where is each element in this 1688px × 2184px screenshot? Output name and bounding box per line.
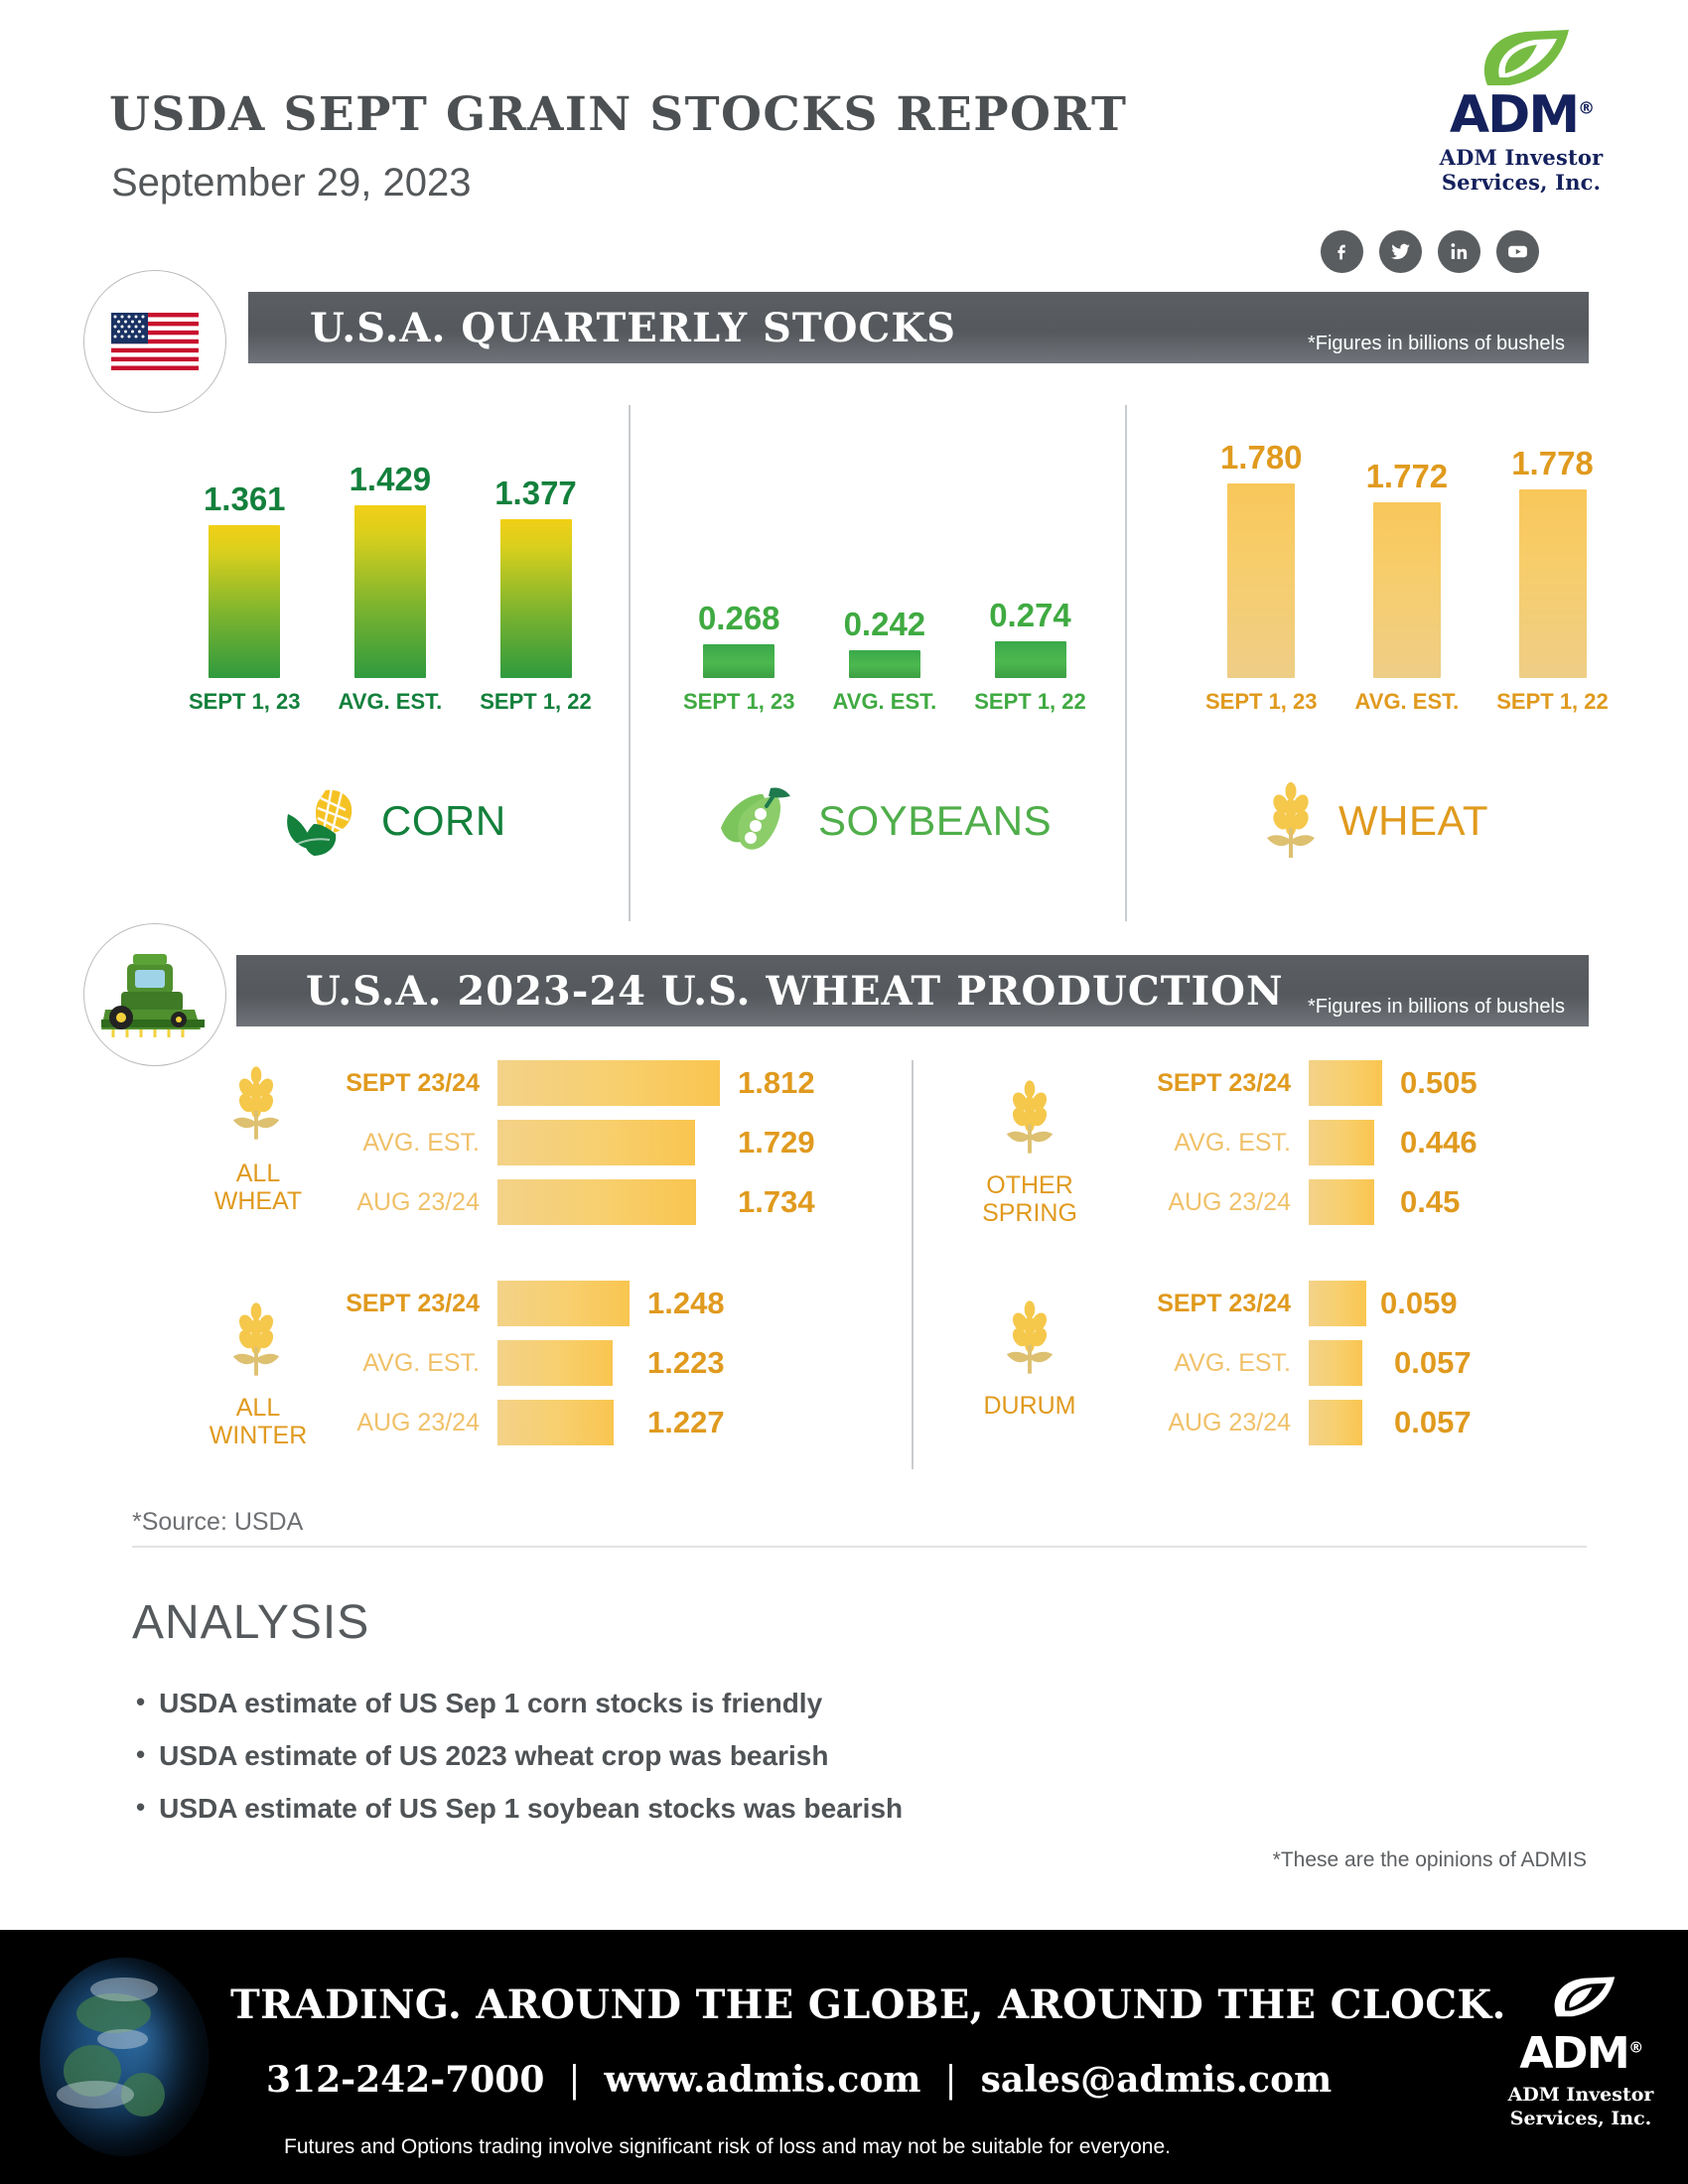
all-winter-label-line1: ALL: [184, 1394, 333, 1422]
wheat-label-2: SEPT 1, 22: [1496, 689, 1609, 715]
quarterly-stocks-note: *Figures in billions of bushels: [1308, 333, 1565, 355]
all-winter-row-0: SEPT 23/24 1.248: [321, 1281, 725, 1326]
all-winter-label-line2: WINTER: [184, 1422, 333, 1449]
all-winter-row-0-label: SEPT 23/24: [321, 1290, 480, 1318]
wheat-bar-1: [1373, 502, 1441, 678]
soybeans-value-2: 0.274: [989, 597, 1071, 634]
adm-wordmark: ADM®: [1450, 91, 1593, 140]
durum-row-0: SEPT 23/24 0.059: [1132, 1281, 1458, 1326]
other-spring-label-line1: OTHER: [955, 1171, 1104, 1199]
wheat-bar-2: [1519, 489, 1587, 678]
wheat-label-1: AVG. EST.: [1355, 689, 1460, 715]
corn-bars: 1.361 SEPT 1, 23 1.429 AVG. EST. 1.377 S…: [189, 477, 592, 715]
other-spring-row-0-bar: [1309, 1060, 1382, 1106]
soybean-pod-icon: [713, 784, 798, 858]
soybeans-bar-group-1: 0.242 AVG. EST.: [833, 606, 937, 715]
soybeans-value-0: 0.268: [698, 600, 780, 637]
opinions-note: *These are the opinions of ADMIS: [1273, 1848, 1587, 1872]
analysis-bullet-2: • USDA estimate of US Sep 1 soybean stoc…: [136, 1793, 903, 1825]
all-wheat-label-line2: WHEAT: [184, 1187, 333, 1215]
durum-row-2-bar: [1309, 1400, 1362, 1445]
infographic-page: USDA SEPT GRAIN STOCKS REPORT September …: [0, 0, 1688, 2184]
all-wheat-row-2: AUG 23/24 1.734: [321, 1179, 815, 1225]
corn-icon: [280, 784, 361, 858]
corn-bar-group-0: 1.361 SEPT 1, 23: [189, 480, 301, 715]
soybeans-bar-0: [703, 644, 774, 678]
footer-separator-1: |: [568, 2060, 580, 2101]
all-winter-row-0-bar: [497, 1281, 630, 1326]
footer-adm-trademark: ®: [1628, 2038, 1642, 2056]
other-spring-row-1-label: AVG. EST.: [1132, 1129, 1291, 1158]
all-winter-row-2-label: AUG 23/24: [321, 1409, 480, 1437]
durum-row-0-value: 0.059: [1380, 1286, 1458, 1321]
footer-adm-subtitle-line1: ADM Investor: [1491, 2084, 1670, 2108]
other-spring-row-0-value: 0.505: [1400, 1065, 1477, 1101]
analysis-bullet-2-text: USDA estimate of US Sep 1 soybean stocks…: [159, 1793, 903, 1825]
quarterly-divider-2: [1125, 405, 1127, 921]
wheat-production-title: U.S.A. 2023-24 U.S. WHEAT PRODUCTION: [306, 968, 1284, 1015]
corn-bar-2: [500, 519, 572, 678]
footer-separator-2: |: [945, 2060, 957, 2101]
footer-adm-logo: ADM® ADM Investor Services, Inc.: [1491, 1972, 1670, 2131]
all-winter-row-1: AVG. EST. 1.223: [321, 1340, 725, 1386]
all-wheat-row-1-bar: [497, 1120, 695, 1165]
wheat-production-note: *Figures in billions of bushels: [1308, 996, 1565, 1019]
youtube-icon[interactable]: [1496, 230, 1539, 273]
all-wheat-row-2-bar: [497, 1179, 696, 1225]
soybeans-crop-name: SOYBEANS: [818, 797, 1052, 845]
corn-label-0: SEPT 1, 23: [189, 689, 301, 715]
corn-bar-0: [209, 525, 280, 678]
analysis-bullet-1-text: USDA estimate of US 2023 wheat crop was …: [159, 1740, 828, 1772]
linkedin-icon[interactable]: [1438, 230, 1480, 273]
footer-adm-subtitle-line2: Services, Inc.: [1491, 2108, 1670, 2131]
durum-label: DURUM: [955, 1392, 1104, 1420]
all-wheat-label: ALL WHEAT: [184, 1160, 333, 1215]
wheat-bar-group-2: 1.778 SEPT 1, 22: [1496, 445, 1609, 715]
all-wheat-row-1-value: 1.729: [738, 1125, 815, 1160]
durum-label-line1: DURUM: [955, 1392, 1104, 1420]
corn-value-0: 1.361: [204, 480, 286, 518]
page-title: USDA SEPT GRAIN STOCKS REPORT: [109, 87, 1127, 142]
durum-row-0-bar: [1309, 1281, 1366, 1326]
all-winter-label: ALL WINTER: [184, 1394, 333, 1449]
all-wheat-row-2-label: AUG 23/24: [321, 1188, 480, 1217]
adm-logo-subtitle: ADM Investor Services, Inc.: [1422, 146, 1620, 196]
all-winter-row-1-label: AVG. EST.: [321, 1349, 480, 1378]
wheat-bar-0: [1227, 483, 1295, 678]
soybeans-bars: 0.268 SEPT 1, 23 0.242 AVG. EST. 0.274 S…: [683, 625, 1086, 715]
soybeans-crop-row: SOYBEANS: [713, 784, 1052, 858]
soybeans-bar-1: [849, 650, 920, 678]
all-winter-row-1-bar: [497, 1340, 613, 1386]
report-date: September 29, 2023: [111, 161, 471, 205]
usa-flag-icon: [111, 313, 199, 370]
footer-tagline: TRADING. AROUND THE GLOBE, AROUND THE CL…: [230, 1981, 1506, 2028]
bullet-dot-icon: •: [136, 1688, 145, 1716]
wheat-value-2: 1.778: [1511, 445, 1594, 482]
footer-website[interactable]: www.admis.com: [605, 2059, 921, 2101]
footer-phone[interactable]: 312-242-7000: [266, 2059, 544, 2101]
wheat-production-header-bar: U.S.A. 2023-24 U.S. WHEAT PRODUCTION *Fi…: [236, 955, 1589, 1026]
durum-row-1-label: AVG. EST.: [1132, 1349, 1291, 1378]
all-wheat-row-1: AVG. EST. 1.729: [321, 1120, 815, 1165]
footer-email[interactable]: sales@admis.com: [981, 2059, 1333, 2101]
corn-value-1: 1.429: [350, 461, 432, 498]
soybeans-value-1: 0.242: [844, 606, 926, 643]
wheat-stalk-icon: [1263, 782, 1319, 860]
all-wheat-label-line1: ALL: [184, 1160, 333, 1187]
bullet-dot-icon: •: [136, 1740, 145, 1769]
adm-logo-subtitle-line1: ADM Investor: [1422, 146, 1620, 171]
other-spring-label: OTHER SPRING: [955, 1171, 1104, 1227]
corn-bar-group-2: 1.377 SEPT 1, 22: [480, 475, 592, 715]
corn-value-2: 1.377: [494, 475, 577, 512]
analysis-heading: ANALYSIS: [132, 1595, 369, 1650]
wheat-crop-name: WHEAT: [1338, 797, 1488, 845]
wheat-stalk-icon: [229, 1066, 283, 1142]
bullet-dot-icon: •: [136, 1793, 145, 1822]
all-winter-group: ALL WINTER SEPT 23/24 1.248 AVG. EST. 1.…: [132, 1281, 912, 1469]
wheat-value-0: 1.780: [1220, 439, 1303, 477]
facebook-icon[interactable]: [1321, 230, 1363, 273]
adm-wordmark-text: ADM: [1450, 85, 1578, 145]
other-spring-label-line2: SPRING: [955, 1199, 1104, 1227]
source-note: *Source: USDA: [132, 1508, 303, 1537]
other-spring-group: OTHER SPRING SEPT 23/24 0.505 AVG. EST. …: [955, 1060, 1591, 1249]
durum-row-1-value: 0.057: [1394, 1345, 1472, 1381]
all-wheat-row-0: SEPT 23/24 1.812: [321, 1060, 815, 1106]
durum-row-2: AUG 23/24 0.057: [1132, 1400, 1472, 1445]
all-winter-row-2-bar: [497, 1400, 614, 1445]
adm-leaf-icon: [1544, 1972, 1618, 2023]
durum-group: DURUM SEPT 23/24 0.059 AVG. EST. 0.057 A…: [955, 1281, 1591, 1469]
all-wheat-group: ALL WHEAT SEPT 23/24 1.812 AVG. EST. 1.7…: [132, 1060, 912, 1249]
footer-adm-wordmark: ADM®: [1491, 2032, 1670, 2076]
all-wheat-row-0-bar: [497, 1060, 720, 1106]
other-spring-row-2-bar: [1309, 1179, 1374, 1225]
combine-harvester-icon: [97, 948, 212, 1041]
other-spring-row-1-bar: [1309, 1120, 1374, 1165]
all-winter-row-2: AUG 23/24 1.227: [321, 1400, 725, 1445]
other-spring-row-2-value: 0.45: [1400, 1184, 1460, 1220]
durum-row-2-label: AUG 23/24: [1132, 1409, 1291, 1437]
other-spring-row-1-value: 0.446: [1400, 1125, 1477, 1160]
soybeans-label-0: SEPT 1, 23: [683, 689, 795, 715]
quarterly-stocks-header-bar: U.S.A. QUARTERLY STOCKS *Figures in bill…: [248, 292, 1589, 363]
all-winter-row-2-value: 1.227: [647, 1405, 725, 1440]
wheat-stalk-icon: [1003, 1300, 1056, 1376]
all-wheat-row-2-value: 1.734: [738, 1184, 815, 1220]
all-winter-row-1-value: 1.223: [647, 1345, 725, 1381]
wheat-production-divider: [912, 1060, 914, 1469]
soybeans-bar-group-0: 0.268 SEPT 1, 23: [683, 600, 795, 715]
wheat-label-0: SEPT 1, 23: [1205, 689, 1318, 715]
corn-bar-1: [354, 505, 426, 678]
wheat-bar-group-0: 1.780 SEPT 1, 23: [1205, 439, 1318, 715]
corn-label-2: SEPT 1, 22: [480, 689, 592, 715]
corn-bar-group-1: 1.429 AVG. EST.: [339, 461, 443, 715]
wheat-stalk-icon: [229, 1302, 283, 1378]
durum-row-1: AVG. EST. 0.057: [1132, 1340, 1472, 1386]
adm-logo: ADM® ADM Investor Services, Inc.: [1422, 28, 1620, 196]
soybeans-bar-group-2: 0.274 SEPT 1, 22: [974, 597, 1086, 715]
globe-icon: [40, 1958, 209, 2156]
soybeans-label-2: SEPT 1, 22: [974, 689, 1086, 715]
durum-row-1-bar: [1309, 1340, 1362, 1386]
analysis-bullets: • USDA estimate of US Sep 1 corn stocks …: [136, 1688, 903, 1845]
all-wheat-row-1-label: AVG. EST.: [321, 1129, 480, 1158]
durum-row-0-label: SEPT 23/24: [1132, 1290, 1291, 1318]
wheat-bars: 1.780 SEPT 1, 23 1.772 AVG. EST. 1.778 S…: [1205, 447, 1609, 715]
adm-trademark: ®: [1578, 99, 1593, 119]
analysis-bullet-0: • USDA estimate of US Sep 1 corn stocks …: [136, 1688, 903, 1719]
footer-bar: TRADING. AROUND THE GLOBE, AROUND THE CL…: [0, 1930, 1688, 2184]
footer-contact: 312-242-7000 | www.admis.com | sales@adm…: [266, 2059, 1332, 2101]
corn-crop-row: CORN: [280, 784, 506, 858]
analysis-divider: [132, 1546, 1587, 1548]
adm-leaf-icon: [1470, 28, 1573, 89]
corn-crop-name: CORN: [381, 797, 506, 845]
usa-flag-badge: [83, 270, 226, 413]
other-spring-row-0-label: SEPT 23/24: [1132, 1069, 1291, 1098]
quarterly-stocks-title: U.S.A. QUARTERLY STOCKS: [310, 305, 956, 351]
wheat-bar-group-1: 1.772 AVG. EST.: [1355, 458, 1460, 715]
analysis-bullet-1: • USDA estimate of US 2023 wheat crop wa…: [136, 1740, 903, 1772]
other-spring-row-0: SEPT 23/24 0.505: [1132, 1060, 1477, 1106]
wheat-stalk-icon: [1003, 1080, 1056, 1156]
wheat-value-1: 1.772: [1366, 458, 1449, 495]
other-spring-row-2: AUG 23/24 0.45: [1132, 1179, 1460, 1225]
combine-harvester-badge: [83, 923, 226, 1066]
other-spring-row-2-label: AUG 23/24: [1132, 1188, 1291, 1217]
corn-label-1: AVG. EST.: [339, 689, 443, 715]
twitter-icon[interactable]: [1379, 230, 1422, 273]
durum-row-2-value: 0.057: [1394, 1405, 1472, 1440]
footer-adm-wordmark-text: ADM: [1519, 2028, 1628, 2079]
all-winter-row-0-value: 1.248: [647, 1286, 725, 1321]
all-wheat-row-0-label: SEPT 23/24: [321, 1069, 480, 1098]
soybeans-label-1: AVG. EST.: [833, 689, 937, 715]
wheat-crop-row: WHEAT: [1263, 782, 1488, 860]
other-spring-row-1: AVG. EST. 0.446: [1132, 1120, 1477, 1165]
soybeans-bar-2: [995, 641, 1066, 678]
adm-logo-subtitle-line2: Services, Inc.: [1422, 171, 1620, 196]
footer-disclaimer: Futures and Options trading involve sign…: [284, 2135, 1171, 2159]
social-links: [1321, 230, 1539, 273]
analysis-bullet-0-text: USDA estimate of US Sep 1 corn stocks is…: [159, 1688, 822, 1719]
footer-adm-subtitle: ADM Investor Services, Inc.: [1491, 2084, 1670, 2131]
quarterly-divider-1: [629, 405, 631, 921]
all-wheat-row-0-value: 1.812: [738, 1065, 815, 1101]
